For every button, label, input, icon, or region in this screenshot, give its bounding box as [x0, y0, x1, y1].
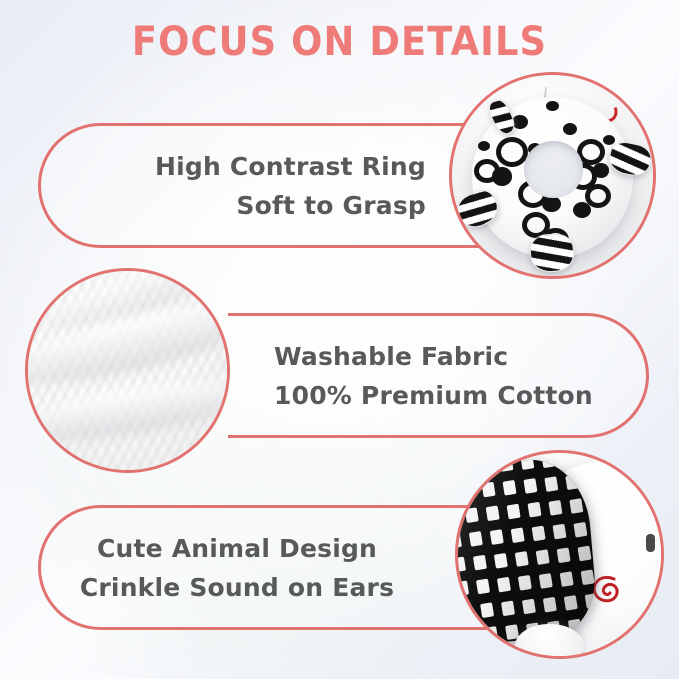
feature-line-1: Washable Fabric	[274, 337, 508, 376]
feature-pill-washable-fabric: Washable Fabric 100% Premium Cotton	[228, 313, 649, 438]
feature-image-high-contrast-ring	[449, 72, 656, 279]
feature-pill-cute-animal-design: Cute Animal Design Crinkle Sound on Ears	[38, 505, 488, 630]
feature-image-washable-fabric	[25, 268, 230, 473]
feature-line-1: High Contrast Ring	[155, 147, 426, 186]
feature-pill-high-contrast-ring: High Contrast Ring Soft to Grasp	[38, 123, 488, 248]
feature-image-cute-animal-design	[455, 450, 664, 659]
page-title: FOCUS ON DETAILS	[27, 17, 652, 67]
knit-fabric-photo	[28, 271, 227, 470]
plush-head-photo	[458, 453, 661, 656]
checkered-ear	[455, 455, 599, 645]
feature-line-2: Crinkle Sound on Ears	[80, 568, 394, 607]
plush-ring-photo	[452, 75, 653, 276]
eye-nub-icon	[646, 534, 655, 552]
feature-line-1: Cute Animal Design	[97, 529, 377, 568]
feature-line-2: 100% Premium Cotton	[274, 376, 593, 415]
infographic-canvas: FOCUS ON DETAILS High Contrast Ring Soft…	[0, 0, 679, 679]
feature-line-2: Soft to Grasp	[236, 186, 426, 225]
